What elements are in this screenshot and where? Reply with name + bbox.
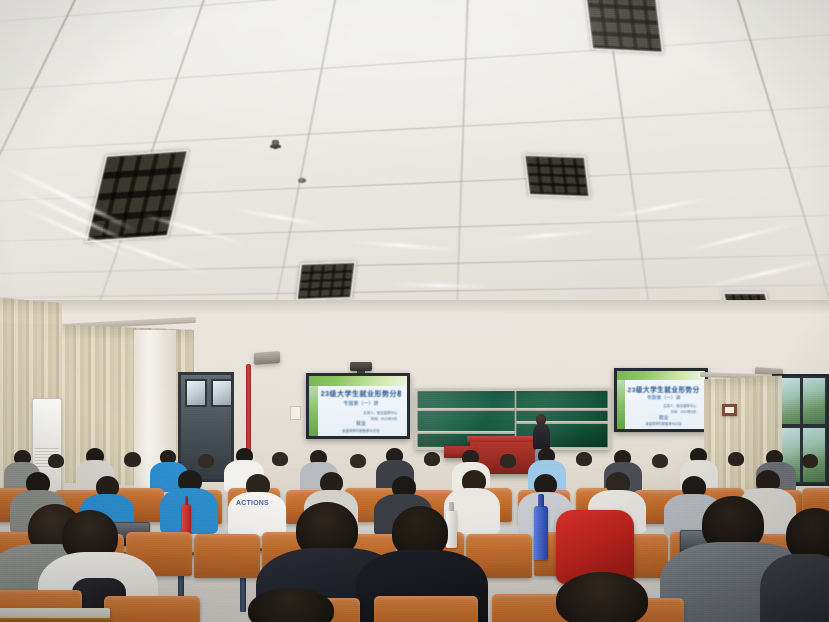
seat-back[interactable]	[194, 534, 260, 578]
slide-title: 23级大学生就业形势分析	[628, 384, 700, 394]
wall-switch-plate-left[interactable]	[290, 406, 301, 420]
slide-highlight: 就业	[323, 420, 399, 427]
slide-line-1: 主讲人：就业指导中心	[663, 403, 696, 408]
presenter-torso	[533, 424, 550, 450]
student-head	[500, 454, 516, 468]
projection-screen-left[interactable]: 23级大学生就业形势分析 专题第（一）讲 主讲人：就业指导中心 时间：2023年…	[306, 373, 410, 439]
slide-left: 23级大学生就业形势分析 专题第（一）讲 主讲人：就业指导中心 时间：2023年…	[309, 376, 407, 436]
student-head	[576, 452, 592, 466]
wall-cornice	[0, 300, 829, 314]
student-head	[350, 454, 366, 468]
student-head	[802, 454, 818, 468]
student-head	[728, 452, 744, 466]
projection-screen-right[interactable]: 23级大学生就业形势分析 专题第（一）讲 主讲人：就业指导中心 时间：2023年…	[614, 368, 708, 432]
tiered-auditorium-seating: ACTIONS	[0, 448, 829, 622]
slide-left-accent-band	[617, 371, 625, 429]
wall-speaker-left	[254, 351, 280, 365]
recessed-grille-light-upper-right	[584, 0, 664, 54]
sprinkler-head	[272, 140, 279, 149]
student-head	[48, 454, 64, 468]
door-window-left	[185, 379, 207, 407]
student-desk[interactable]	[0, 608, 110, 622]
slide-left-accent-band	[309, 376, 318, 436]
slide-footer: 欢迎同学们积极参与讨论	[323, 428, 399, 433]
recessed-grille-light-left	[85, 149, 189, 243]
student-head	[124, 452, 141, 467]
student-head	[424, 452, 440, 466]
blue-water-bottle[interactable]	[534, 506, 548, 560]
student-head	[198, 454, 214, 468]
shirt-graphic-text: ACTIONS	[236, 500, 269, 507]
student-body	[760, 554, 829, 622]
desk-edge	[0, 618, 110, 622]
slide-highlight: 就业	[629, 414, 698, 421]
slide-top-accent-band	[617, 371, 705, 380]
student-head	[556, 572, 648, 622]
ceiling-projector	[350, 362, 372, 371]
slide-subtitle: 专题第（一）讲	[628, 394, 700, 401]
recessed-grille-light-center	[296, 261, 357, 301]
suspended-acoustic-ceiling	[0, 0, 829, 330]
student-head	[272, 452, 288, 466]
door-window-right	[211, 379, 233, 407]
student-head	[652, 454, 668, 468]
slide-title: 23级大学生就业形势分析	[321, 389, 401, 399]
smoke-detector	[298, 178, 306, 183]
slide-line-1: 主讲人：就业指导中心	[363, 410, 397, 415]
slide-right: 23级大学生就业形势分析 专题第（一）讲 主讲人：就业指导中心 时间：2023年…	[617, 371, 705, 429]
slide-subtitle: 专题第（一）讲	[321, 400, 401, 407]
recessed-grille-light-right	[523, 154, 590, 198]
slide-footer: 欢迎同学们积极参与讨论	[629, 421, 698, 426]
wall-framed-picture	[722, 404, 737, 416]
student-body	[228, 492, 286, 536]
lecture-hall-photo: 23级大学生就业形势分析 专题第（一）讲 主讲人：就业指导中心 时间：2023年…	[0, 0, 829, 622]
seat-back[interactable]	[104, 596, 200, 622]
seat-back[interactable]	[374, 596, 478, 622]
slide-top-accent-band	[309, 376, 407, 386]
